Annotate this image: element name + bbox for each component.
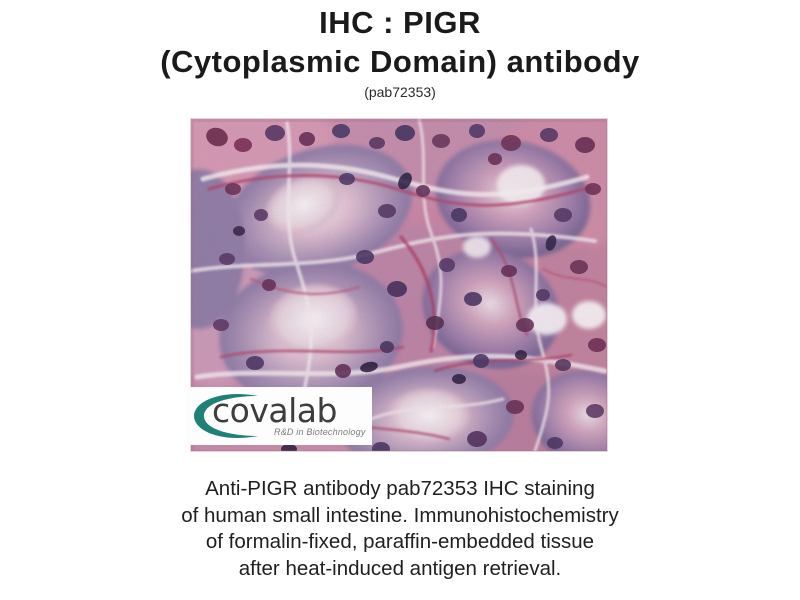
page-title-line-2: (Cytoplasmic Domain) antibody (0, 42, 800, 82)
logo-inner: covalab R&D in Biotechnology (186, 387, 372, 445)
logo-wordmark: covalab (212, 393, 372, 429)
caption-line-4: after heat-induced antigen retrieval. (60, 556, 740, 583)
figure-caption: Anti-PIGR antibody pab72353 IHC staining… (60, 476, 740, 582)
caption-line-3: of formalin-fixed, paraffin-embedded tis… (60, 529, 740, 556)
title-block: IHC : PIGR (Cytoplasmic Domain) antibody… (0, 4, 800, 102)
caption-line-2: of human small intestine. Immunohistoche… (60, 503, 740, 530)
catalog-number: (pab72353) (0, 82, 800, 102)
page-title-line-1: IHC : PIGR (0, 4, 800, 42)
caption-line-1: Anti-PIGR antibody pab72353 IHC staining (60, 476, 740, 503)
logo-tagline: R&D in Biotechnology (274, 427, 366, 437)
figure-page: IHC : PIGR (Cytoplasmic Domain) antibody… (0, 0, 800, 600)
covalab-logo: covalab R&D in Biotechnology (186, 387, 372, 445)
